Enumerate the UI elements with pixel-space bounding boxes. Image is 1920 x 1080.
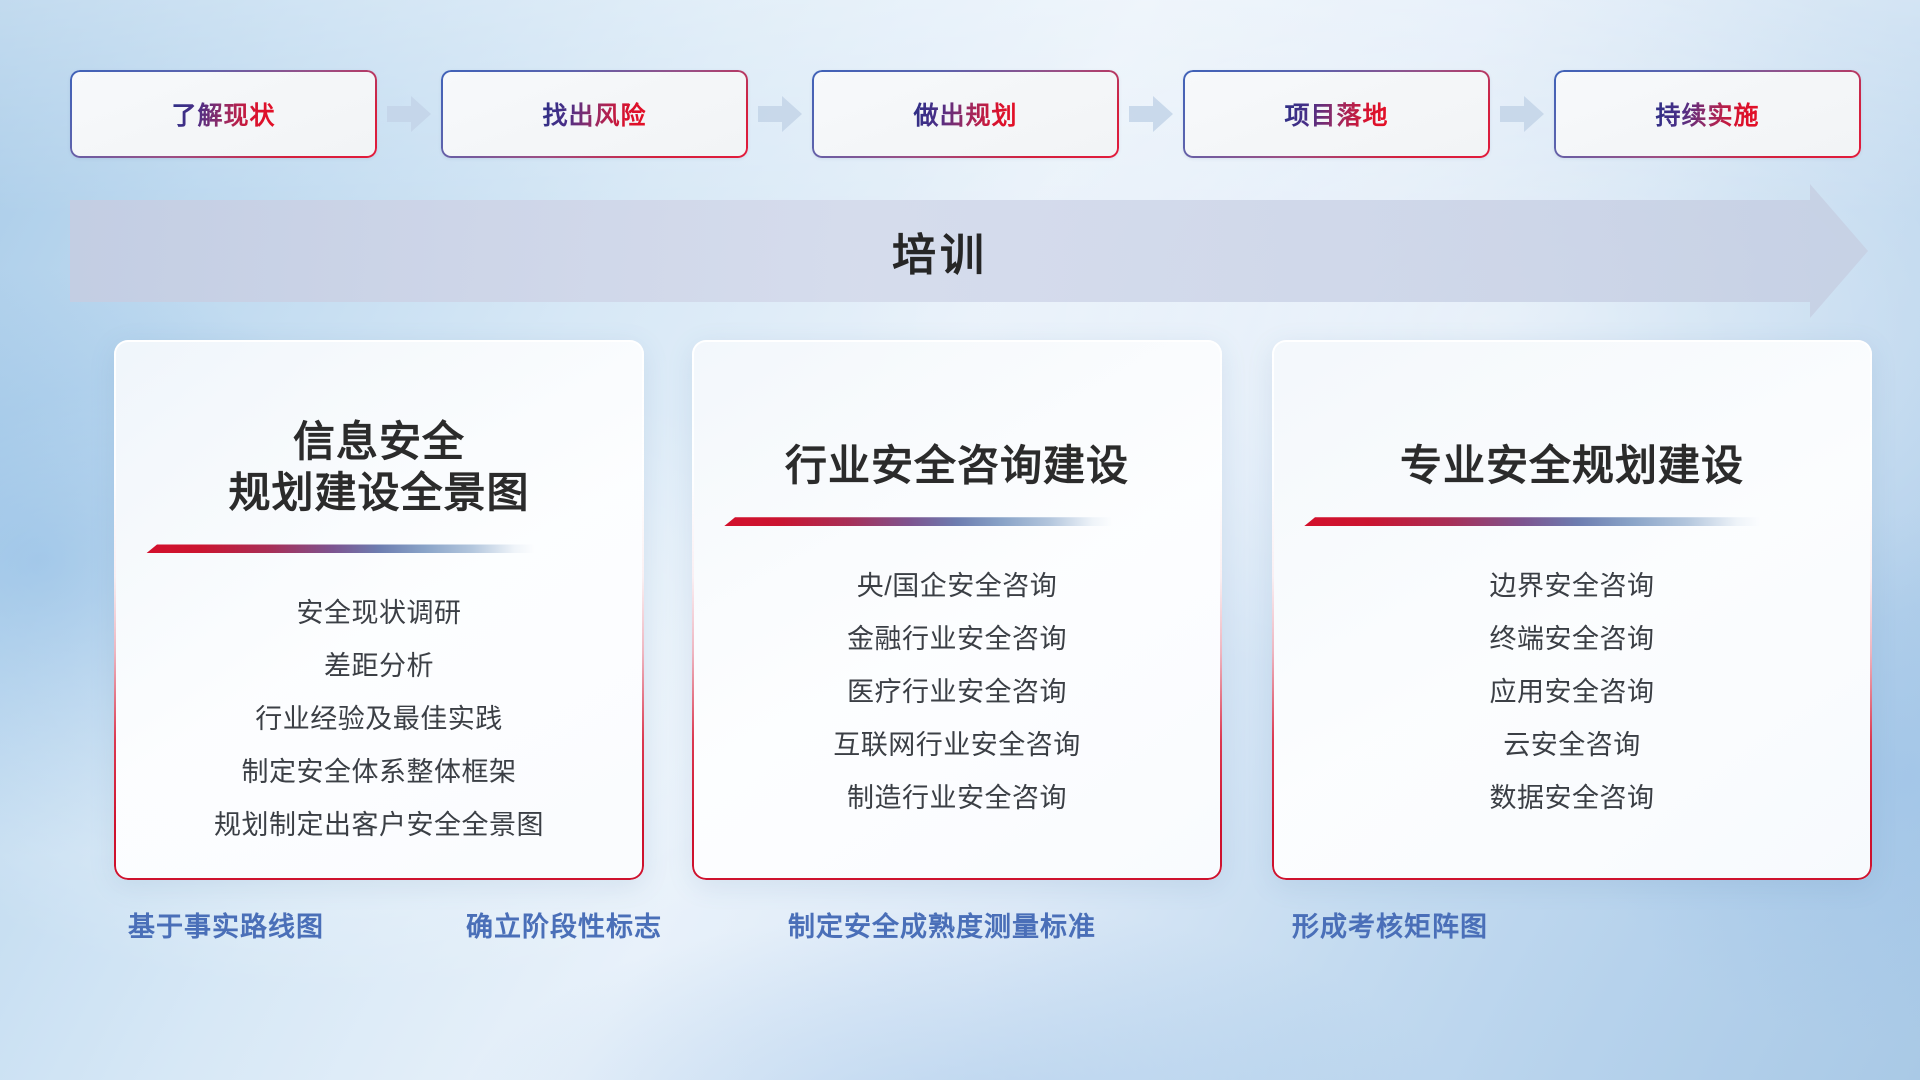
process-step-label: 了解现状 <box>171 96 275 132</box>
card-title-line: 规划建设全景图 <box>138 467 620 518</box>
list-item: 制造行业安全咨询 <box>692 772 1222 825</box>
banner-title: 培训 <box>70 200 1810 302</box>
footer-label: 制定安全成熟度测量标准 <box>788 905 1096 944</box>
card-divider <box>724 517 1112 526</box>
card-item-list: 安全现状调研 差距分析 行业经验及最佳实践 制定安全体系整体框架 规划制定出客户… <box>114 587 644 852</box>
footer-label-row: 基于事实路线图 确立阶段性标志 制定安全成熟度测量标准 形成考核矩阵图 <box>0 905 1920 965</box>
card-item-list: 央/国企安全咨询 金融行业安全咨询 医疗行业安全咨询 互联网行业安全咨询 制造行… <box>692 560 1222 825</box>
card-divider <box>1304 517 1760 526</box>
card-title-line: 信息安全 <box>138 416 620 467</box>
list-item: 云安全咨询 <box>1272 719 1872 772</box>
card-item-list: 边界安全咨询 终端安全咨询 应用安全咨询 云安全咨询 数据安全咨询 <box>1272 560 1872 825</box>
card-divider <box>146 544 534 553</box>
list-item: 安全现状调研 <box>114 587 644 640</box>
list-item: 制定安全体系整体框架 <box>114 746 644 799</box>
list-item: 行业经验及最佳实践 <box>114 693 644 746</box>
list-item: 差距分析 <box>114 640 644 693</box>
card-title-line: 行业安全咨询建设 <box>716 440 1198 491</box>
card-title: 行业安全咨询建设 <box>692 440 1222 491</box>
card-industry-security-consulting[interactable]: 行业安全咨询建设 央/国企安全咨询 金融行业安全咨询 医疗行业安全咨询 互联网行… <box>692 340 1222 880</box>
card-title-line: 专业安全规划建设 <box>1296 440 1848 491</box>
training-banner: 培训 <box>70 200 1870 302</box>
process-step-label: 做出规划 <box>913 96 1017 132</box>
list-item: 边界安全咨询 <box>1272 560 1872 613</box>
arrow-right-icon <box>377 70 441 158</box>
footer-label: 确立阶段性标志 <box>466 905 662 944</box>
list-item: 央/国企安全咨询 <box>692 560 1222 613</box>
card-information-security-blueprint[interactable]: 信息安全 规划建设全景图 安全现状调研 差距分析 行业经验及最佳实践 制定安全体… <box>114 340 644 880</box>
card-title: 信息安全 规划建设全景图 <box>114 416 644 518</box>
process-step-label: 持续实施 <box>1655 96 1759 132</box>
card-title: 专业安全规划建设 <box>1272 440 1872 491</box>
footer-label: 形成考核矩阵图 <box>1292 905 1488 944</box>
process-step-4[interactable]: 持续实施 <box>1554 70 1861 158</box>
process-step-bar: 了解现状 找出风险 做出规划 项目落地 持续实施 <box>70 70 1860 158</box>
process-step-2[interactable]: 做出规划 <box>812 70 1119 158</box>
footer-label: 基于事实路线图 <box>128 905 324 944</box>
arrow-right-icon <box>1490 70 1554 158</box>
card-group: 信息安全 规划建设全景图 安全现状调研 差距分析 行业经验及最佳实践 制定安全体… <box>0 340 1920 880</box>
process-step-1[interactable]: 找出风险 <box>441 70 748 158</box>
list-item: 终端安全咨询 <box>1272 613 1872 666</box>
arrow-right-icon <box>1119 70 1183 158</box>
process-step-3[interactable]: 项目落地 <box>1183 70 1490 158</box>
list-item: 医疗行业安全咨询 <box>692 666 1222 719</box>
list-item: 互联网行业安全咨询 <box>692 719 1222 772</box>
process-step-label: 项目落地 <box>1284 96 1388 132</box>
list-item: 规划制定出客户安全全景图 <box>114 799 644 852</box>
list-item: 金融行业安全咨询 <box>692 613 1222 666</box>
card-professional-security-planning[interactable]: 专业安全规划建设 边界安全咨询 终端安全咨询 应用安全咨询 云安全咨询 数据安全… <box>1272 340 1872 880</box>
list-item: 数据安全咨询 <box>1272 772 1872 825</box>
banner-arrow-tip-icon <box>1810 184 1868 318</box>
process-step-label: 找出风险 <box>542 96 646 132</box>
process-step-0[interactable]: 了解现状 <box>70 70 377 158</box>
list-item: 应用安全咨询 <box>1272 666 1872 719</box>
arrow-right-icon <box>748 70 812 158</box>
